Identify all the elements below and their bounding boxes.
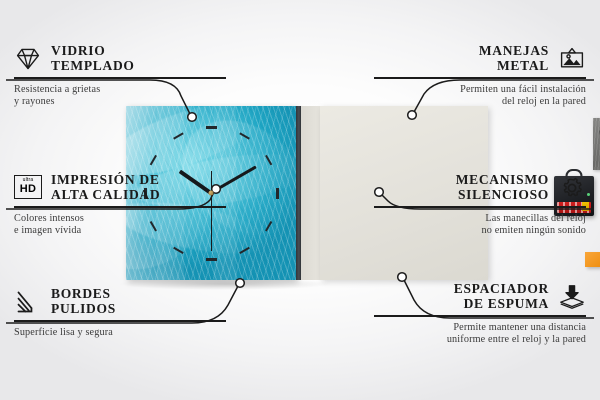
feature-manejas-metal: MANEJAS METAL Permiten una fácil instala… (374, 44, 586, 108)
feature-subtitle: Permite mantener una distancia uniforme … (374, 322, 586, 347)
mechanism-indicator (587, 193, 590, 196)
metal-hanger-plate (593, 118, 600, 170)
diamond-icon (14, 46, 42, 72)
feature-title: MANEJAS METAL (374, 44, 549, 73)
feature-vidrio-templado: VIDRIO TEMPLADO Resistencia a grietas y … (14, 44, 226, 108)
feature-title: MECANISMO SILENCIOSO (374, 173, 549, 202)
foam-spacer (585, 252, 600, 267)
arrow-down-stack-icon (558, 284, 586, 310)
feature-subtitle: Permiten una fácil instalación del reloj… (374, 84, 586, 109)
feature-title: VIDRIO TEMPLADO (51, 44, 226, 73)
feature-subtitle: Superficie lisa y segura (14, 327, 226, 339)
feature-title: IMPRESIÓN DE ALTA CALIDAD (51, 173, 226, 202)
feature-bordes-pulidos: BORDES PULIDOS Superficie lisa y segura (14, 287, 226, 339)
title-rule (14, 206, 226, 208)
polished-edges-icon (14, 289, 42, 315)
feature-espaciador-espuma: ESPACIADOR DE ESPUMA Permite mantener un… (374, 282, 586, 346)
gear-icon (558, 175, 586, 201)
feature-subtitle: Las manecillas del reloj no emiten ningú… (374, 213, 586, 238)
title-rule (14, 77, 226, 79)
feature-subtitle: Resistencia a grietas y rayones (14, 84, 226, 109)
feature-subtitle: Colores intensos e imagen vívida (14, 213, 226, 238)
picture-frame-hanging-icon (558, 46, 586, 72)
clock-tick (206, 126, 217, 129)
title-rule (374, 206, 586, 208)
feature-mecanismo-silencioso: MECANISMO SILENCIOSO Las manecillas del … (374, 173, 586, 237)
ultra-hd-bottom-text: HD (20, 184, 37, 195)
infographic-canvas: VIDRIO TEMPLADO Resistencia a grietas y … (0, 0, 600, 400)
feature-title: ESPACIADOR DE ESPUMA (374, 282, 549, 311)
ultra-hd-icon: ultra HD (14, 175, 42, 201)
clock-tick (206, 258, 217, 261)
title-rule (374, 77, 586, 79)
clock-center-cap (209, 191, 214, 196)
clock-tick (276, 188, 279, 199)
feature-title: BORDES PULIDOS (51, 287, 226, 316)
feature-impresion-alta-calidad: ultra HD IMPRESIÓN DE ALTA CALIDAD Color… (14, 173, 226, 237)
title-rule (374, 315, 586, 317)
title-rule (14, 320, 226, 322)
panel-back-sliver (301, 106, 320, 280)
